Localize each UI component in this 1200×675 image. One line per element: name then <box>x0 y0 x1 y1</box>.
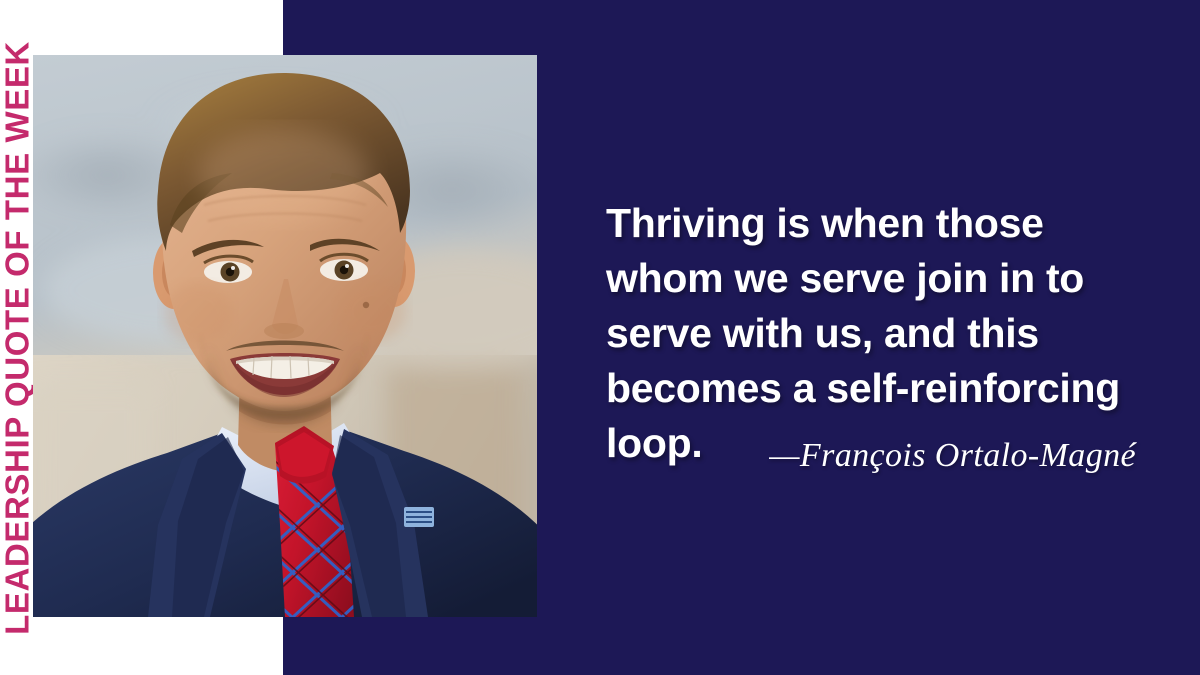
portrait-photo <box>32 55 537 617</box>
quote-attribution: —François Ortalo-Magné <box>606 434 1136 478</box>
quote-card-canvas: LEADERSHIP QUOTE OF THE WEEK Thriving is… <box>0 0 1200 675</box>
leadership-ribbon: LEADERSHIP QUOTE OF THE WEEK <box>0 0 33 675</box>
quote-text: Thriving is when those whom we serve joi… <box>606 196 1146 471</box>
quote-block: Thriving is when those whom we serve joi… <box>606 196 1146 471</box>
portrait-illustration <box>32 55 537 617</box>
ribbon-label: LEADERSHIP QUOTE OF THE WEEK <box>0 41 33 635</box>
